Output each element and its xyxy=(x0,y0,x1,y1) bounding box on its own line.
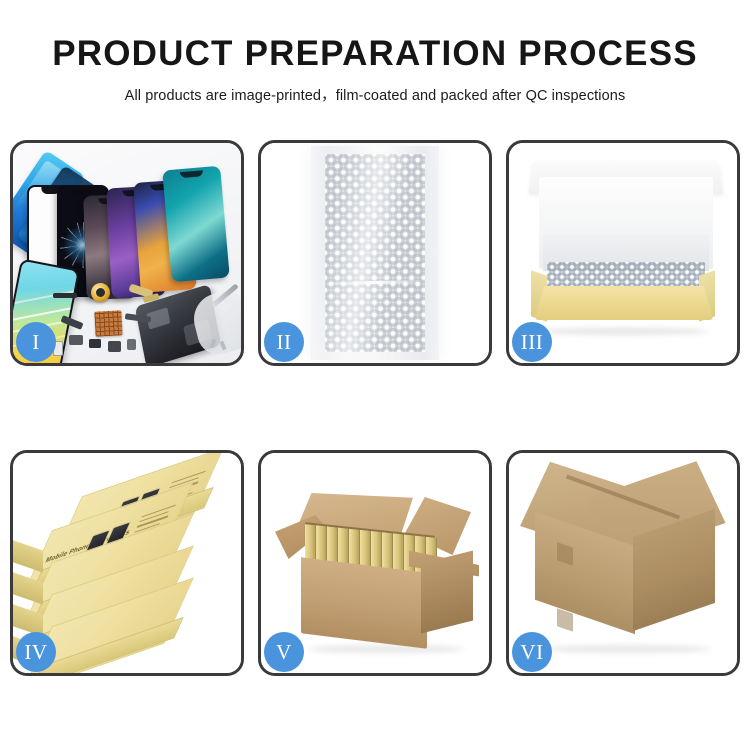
box-shadow xyxy=(539,328,709,335)
step-badge-5: V xyxy=(264,632,304,672)
carton-side-face-icon xyxy=(421,551,473,634)
notch-icon xyxy=(180,170,204,178)
carton-shadow xyxy=(545,645,711,653)
carton-front-face-icon xyxy=(301,557,427,648)
screws-icon xyxy=(209,339,231,349)
box-edge-face xyxy=(13,535,43,572)
wrap-gloss-icon xyxy=(311,146,439,360)
connector-icon xyxy=(69,335,83,345)
chip-icon xyxy=(127,339,136,350)
bubble-wrap-icon xyxy=(311,146,439,360)
notch-icon xyxy=(73,188,94,194)
speaker-ring-icon xyxy=(91,283,110,302)
process-steps-grid: I II xyxy=(10,140,742,676)
bubble-wrap-icon xyxy=(547,262,705,290)
step-panel-2: II xyxy=(258,140,492,366)
phone-teal-icon xyxy=(162,166,230,283)
carton-shadow xyxy=(307,645,465,653)
step-badge-3: III xyxy=(512,322,552,362)
page-title: PRODUCT PREPARATION PROCESS xyxy=(0,36,750,71)
box-front-panel-icon xyxy=(535,286,713,320)
step-badge-1: I xyxy=(16,322,56,362)
step-badge-6: VI xyxy=(512,632,552,672)
product-preparation-page: PRODUCT PREPARATION PROCESS All products… xyxy=(0,0,750,750)
page-subtitle: All products are image-printed，film-coat… xyxy=(0,84,750,105)
step-panel-4: Mobile Phone Spare Parts Mobile Phone Sp… xyxy=(10,450,244,676)
step-badge-2: II xyxy=(264,322,304,362)
page-header: PRODUCT PREPARATION PROCESS All products… xyxy=(0,0,750,105)
step-badge-4: IV xyxy=(16,632,56,672)
copper-mesh-icon xyxy=(94,310,122,336)
box-stack-icon: Mobile Phone Spare Parts Mobile Phone Sp… xyxy=(15,467,241,665)
chip-icon xyxy=(89,339,101,348)
step-panel-1: I xyxy=(10,140,244,366)
step-panel-6: VI xyxy=(506,450,740,676)
step-panel-3: III xyxy=(506,140,740,366)
step-panel-5: V xyxy=(258,450,492,676)
flex-cable-icon xyxy=(53,293,77,298)
camera-module-icon xyxy=(108,341,121,352)
